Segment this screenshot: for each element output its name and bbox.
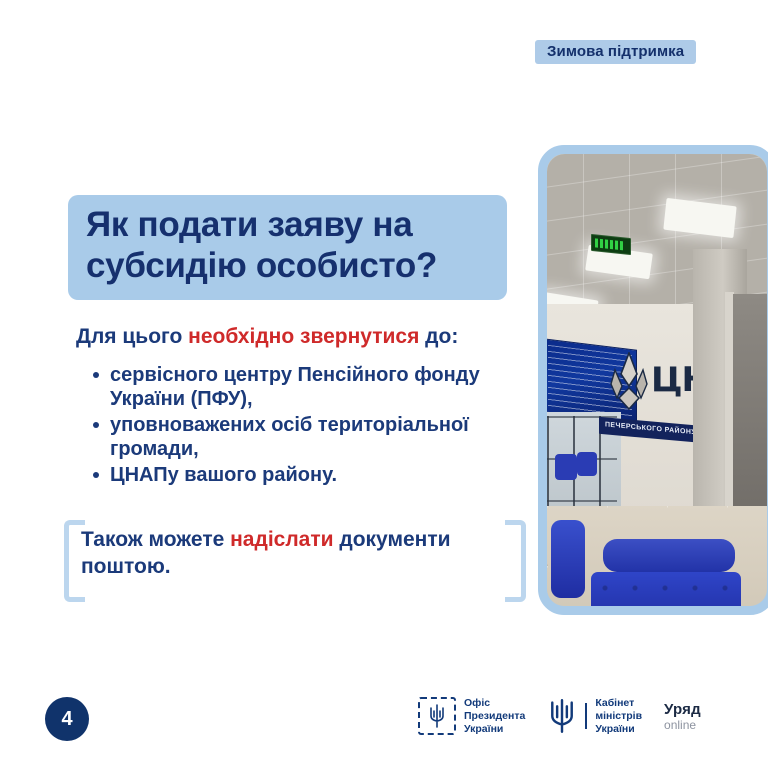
logo-office-of-president-text: Офіс Президента України xyxy=(464,697,525,735)
logo-line-3: України xyxy=(464,723,525,736)
photo-frame: ЦНАП ПЕЧЕРСЬКОГО РАЙОНУ xyxy=(538,145,768,615)
logo-line-2: міністрів xyxy=(595,710,642,723)
list-item: ЦНАПу вашого району. xyxy=(86,463,546,487)
title-line-2: субсидію особисто? xyxy=(86,246,489,287)
callout-box: Також можете надіслати документи поштою. xyxy=(64,520,526,592)
district-plaque-text: ПЕЧЕРСЬКОГО РАЙОНУ xyxy=(605,421,696,436)
page-title: Як подати заяву на субсидію особисто? xyxy=(68,195,507,300)
trident-icon xyxy=(547,699,577,733)
title-line-1: Як подати заяву на xyxy=(86,205,489,246)
stamp-frame xyxy=(418,697,456,735)
bullet-list: сервісного центру Пенсійного фонду Украї… xyxy=(86,363,546,489)
list-item: сервісного центру Пенсійного фонду Украї… xyxy=(86,363,546,411)
logo-cabinet-of-ministers: Кабінет міністрів України xyxy=(547,697,642,735)
logo-line-1: Офіс xyxy=(464,697,525,710)
waiting-chair xyxy=(555,454,577,480)
lead-part-2: до: xyxy=(419,325,458,348)
logo-office-of-president: Офіс Президента України xyxy=(418,697,525,735)
footer-logos: Офіс Президента України Кабінет міністрі… xyxy=(418,697,701,735)
logo-line-3: України xyxy=(595,723,642,736)
sofa-backrest xyxy=(603,539,735,572)
cnap-office-photo: ЦНАП ПЕЧЕРСЬКОГО РАЙОНУ xyxy=(547,154,767,606)
callout-highlight: надіслати xyxy=(230,528,333,551)
sofa-seat xyxy=(591,572,741,606)
uryad-online-label: online xyxy=(664,719,696,731)
doorway xyxy=(733,294,767,534)
logo-line-2: Президента xyxy=(464,710,525,723)
logo-cabinet-of-ministers-text: Кабінет міністрів України xyxy=(595,697,642,735)
cnap-emblem-icon xyxy=(607,352,651,412)
logo-uryad-online: Уряд online xyxy=(664,702,701,731)
page-number-badge: 4 xyxy=(45,697,89,741)
uryad-wordmark: Уряд xyxy=(664,702,701,717)
trident-icon xyxy=(428,704,446,728)
lead-highlight: необхідно звернутися xyxy=(188,325,419,348)
topic-badge: Зимова підтримка xyxy=(535,40,696,64)
waiting-chair xyxy=(577,452,597,476)
callout-text: Також можете надіслати документи поштою. xyxy=(81,526,517,581)
sofa-side-seat xyxy=(551,520,585,598)
list-item: уповноважених осіб територіальної громад… xyxy=(86,413,546,461)
lead-paragraph: Для цього необхідно звернутися до: xyxy=(76,324,536,350)
logo-line-1: Кабінет xyxy=(595,697,642,710)
slide-canvas: Зимова підтримка ЦНАП ПЕ xyxy=(0,0,768,768)
logo-divider xyxy=(585,703,587,729)
callout-part-1: Також можете xyxy=(81,528,230,551)
lead-part-1: Для цього xyxy=(76,325,188,348)
